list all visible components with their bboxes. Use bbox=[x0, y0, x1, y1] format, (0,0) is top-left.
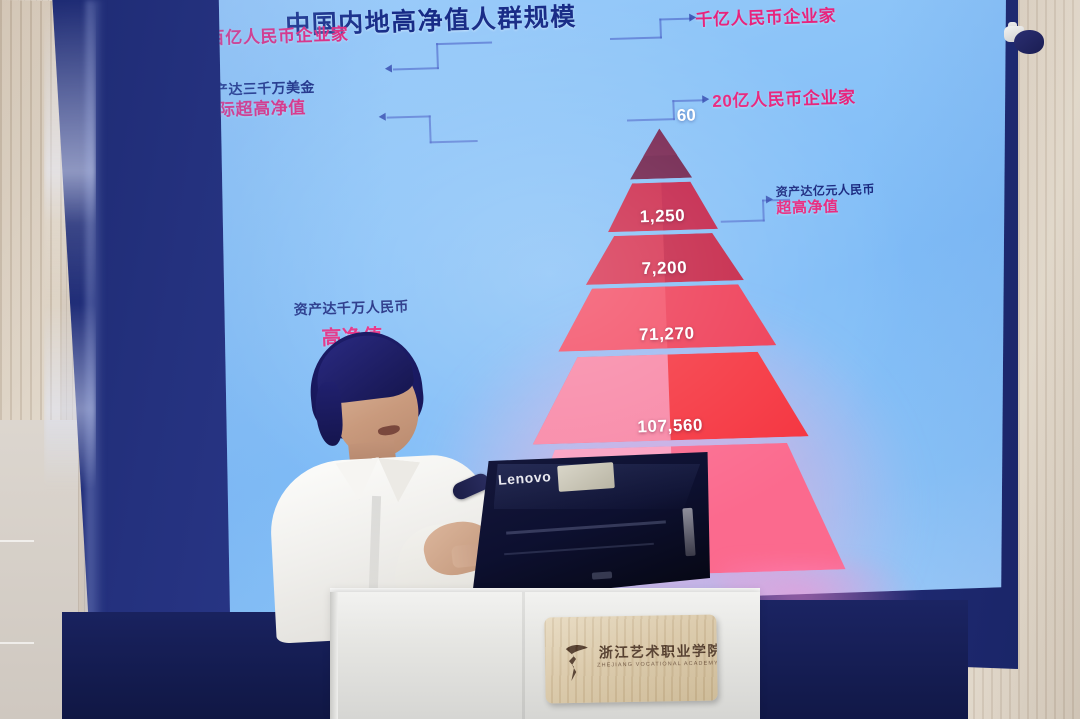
camera-body bbox=[1014, 30, 1044, 54]
speaker-hair-side bbox=[314, 381, 344, 447]
wall-shadow-right bbox=[756, 600, 968, 719]
plaque-title-en: ZHEJIANG VOCATIONAL ACADEMY OF ART bbox=[597, 660, 718, 669]
laptop-sticker bbox=[557, 462, 615, 492]
security-camera-icon bbox=[1004, 22, 1048, 56]
podium-plaque: 浙江艺术职业学院 ZHEJIANG VOCATIONAL ACADEMY OF … bbox=[544, 615, 717, 704]
podium-seam bbox=[522, 592, 525, 719]
presentation-photo: 中国内地高净值人群规模 60 1,250 bbox=[0, 0, 1080, 719]
plaque-title-cn: 浙江艺术职业学院 bbox=[599, 640, 718, 662]
laptop[interactable]: Lenovo bbox=[464, 452, 710, 602]
academy-emblem-icon bbox=[563, 639, 592, 683]
wall-reflection-secondary bbox=[86, 0, 104, 680]
podium-left-edge bbox=[330, 592, 338, 719]
laptop-detail-mark bbox=[592, 571, 612, 579]
